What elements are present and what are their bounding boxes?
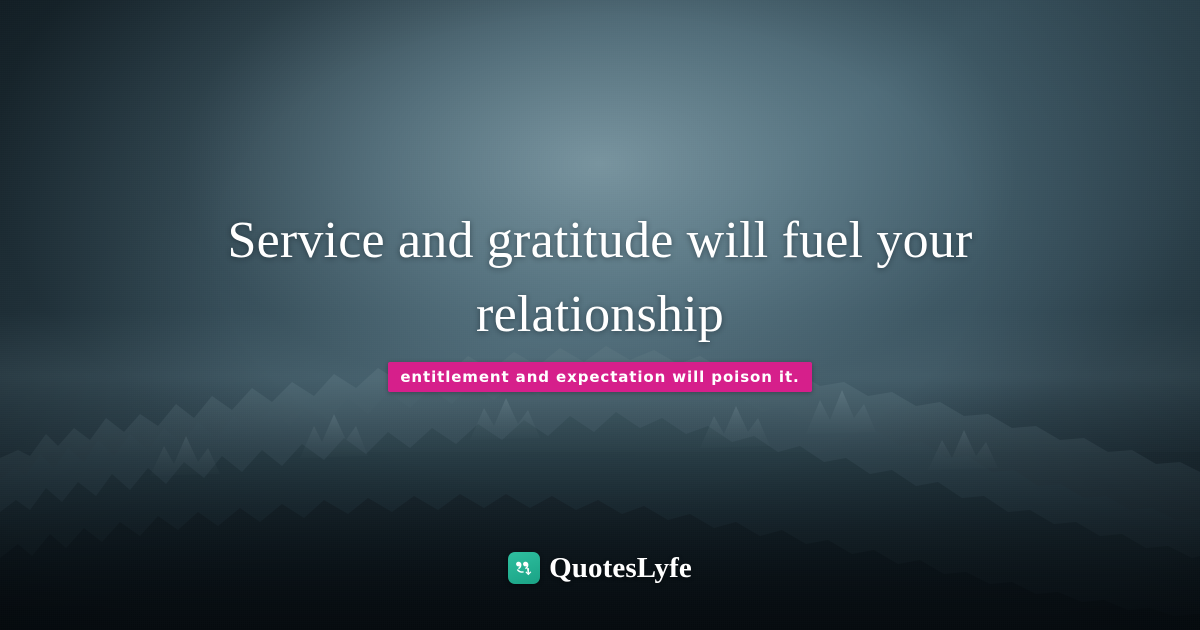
quote-content: Service and gratitude will fuel your rel… <box>0 0 1200 630</box>
quote-mark-icon <box>508 552 540 584</box>
quote-main-text: Service and gratitude will fuel your rel… <box>130 204 1070 352</box>
quote-subtitle-highlight: entitlement and expectation will poison … <box>388 362 811 392</box>
brand-logo[interactable]: QuotesLyfe <box>0 552 1200 584</box>
quote-card: Service and gratitude will fuel your rel… <box>0 0 1200 630</box>
quote-subtitle-container: entitlement and expectation will poison … <box>0 362 1200 392</box>
brand-name: QuotesLyfe <box>549 554 692 583</box>
